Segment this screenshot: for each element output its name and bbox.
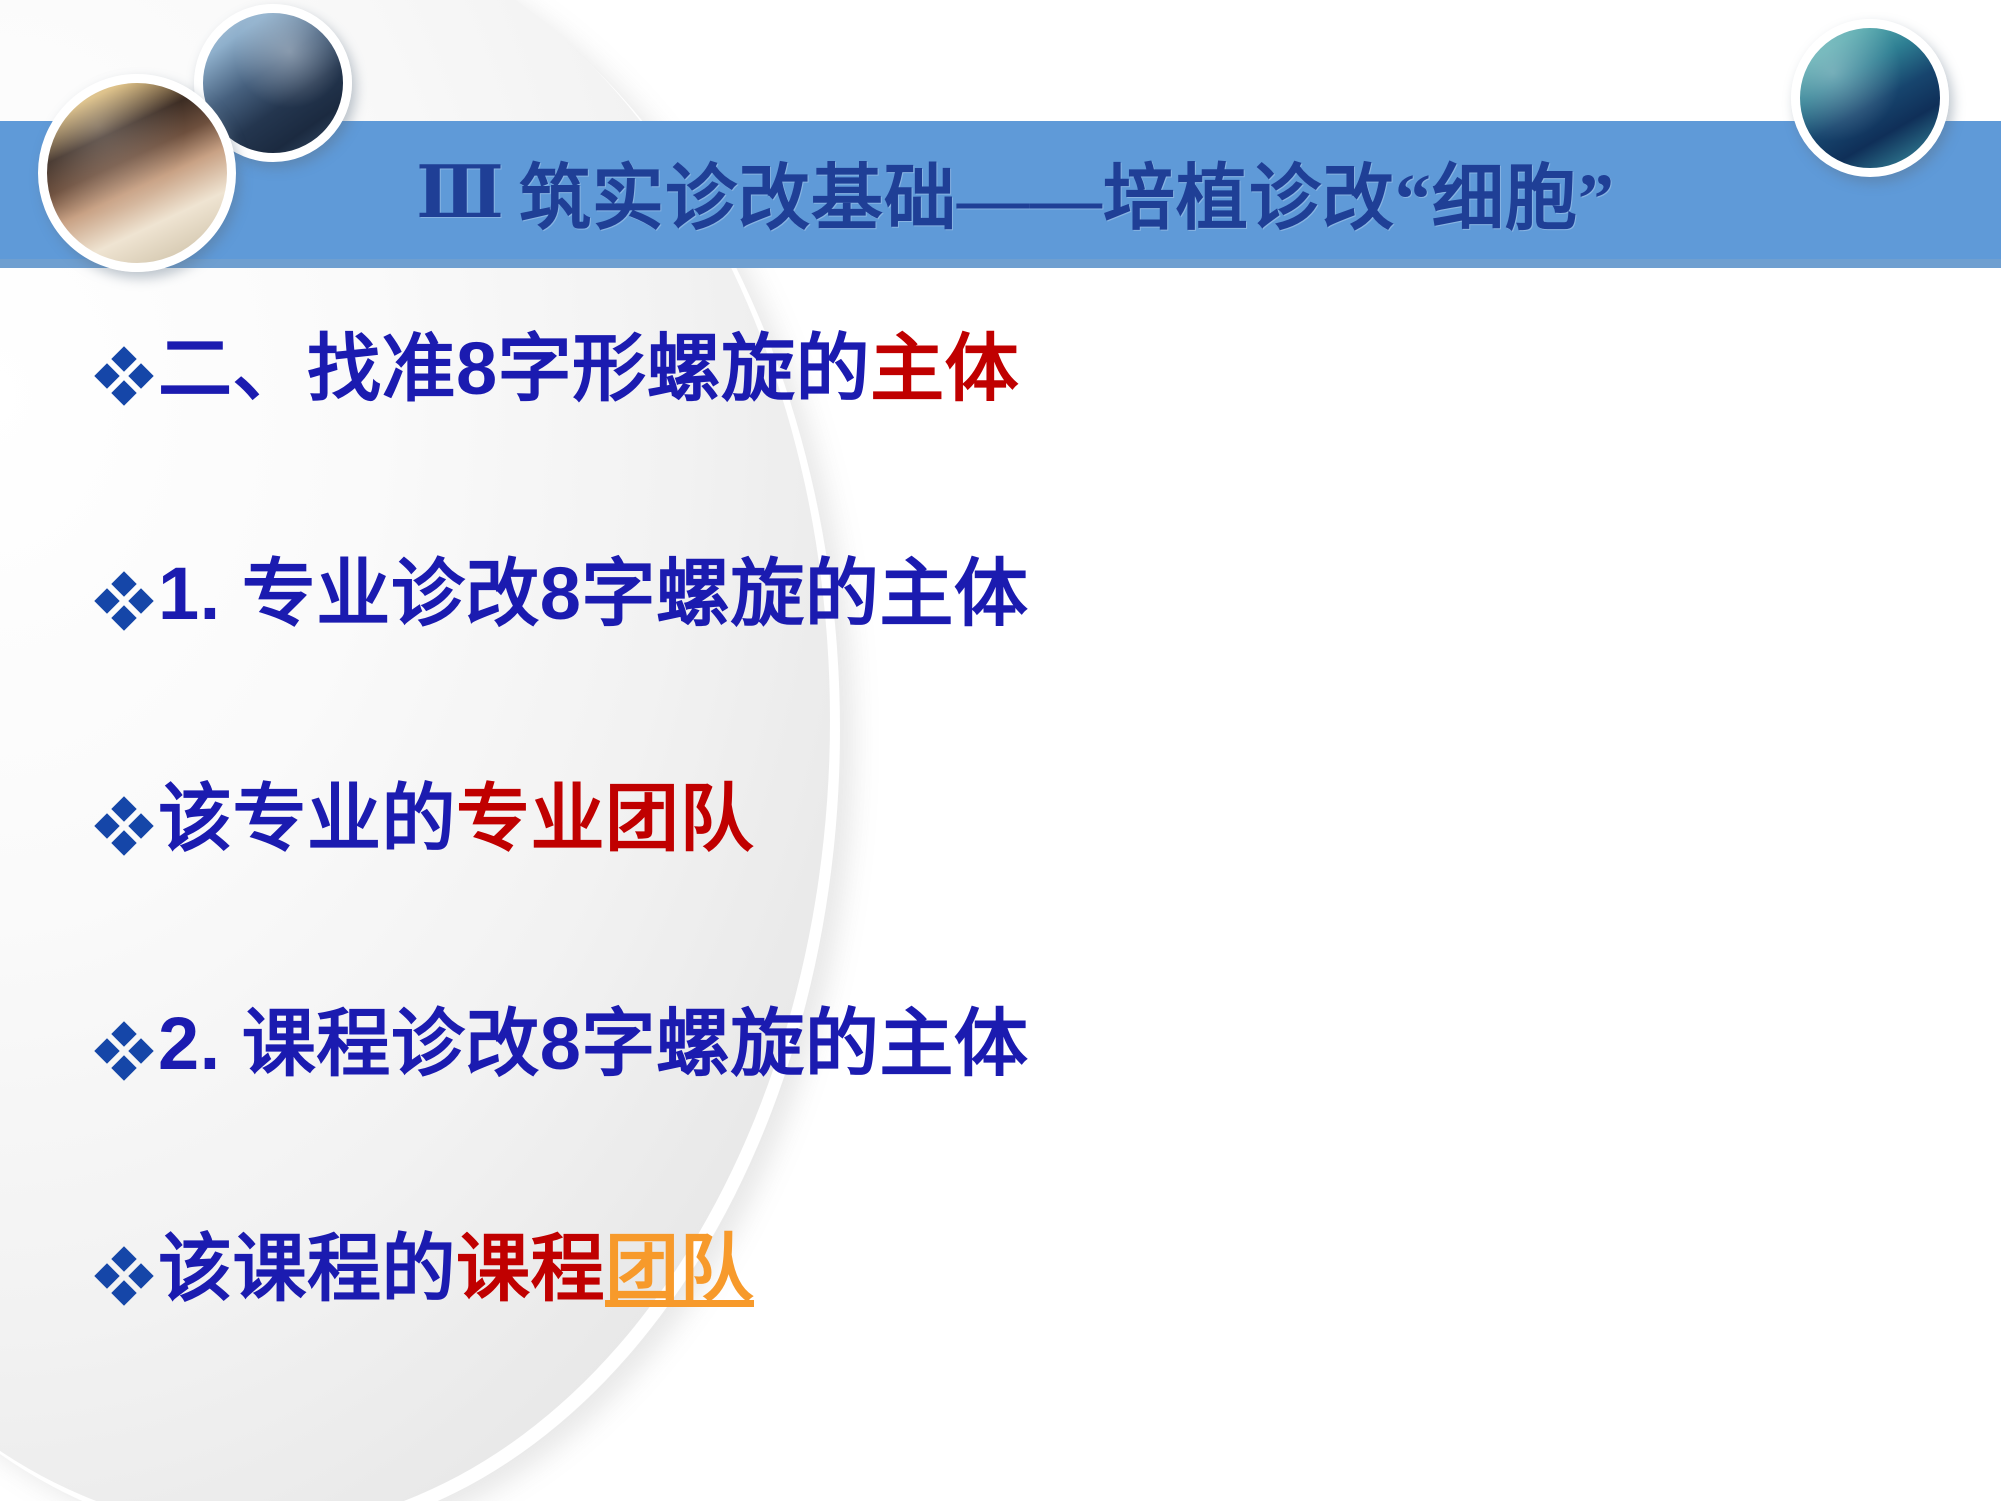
text-segment: 该课程的 — [158, 1227, 456, 1310]
slide-title-numeral: Ⅲ — [416, 149, 505, 235]
text-segment: 2. 课程诊改8字螺旋的主体 — [158, 1002, 1028, 1085]
slide-title-text: 筑实诊改基础——培植诊改“细胞” — [519, 139, 1615, 244]
presentation-slide: Ⅲ 筑实诊改基础——培植诊改“细胞” 二、找准8字形螺旋的主体 1. 专业诊改8… — [0, 0, 2001, 1501]
text-segment-highlight: 主体 — [870, 327, 1019, 410]
text-segment: 1. 专业诊改8字螺旋的主体 — [158, 552, 1028, 635]
hyperlink-team[interactable]: 团队 — [605, 1227, 754, 1310]
list-item: 该专业的专业团队 — [96, 780, 1916, 886]
diamond-cluster-bullet-icon — [96, 798, 152, 858]
diamond-cluster-bullet-icon — [96, 348, 152, 408]
list-item: 1. 专业诊改8字螺旋的主体 — [96, 555, 1916, 661]
list-item: 2. 课程诊改8字螺旋的主体 — [96, 1005, 1916, 1111]
man-writing-presentation-photo — [1794, 22, 1944, 172]
list-item-text: 该专业的专业团队 — [158, 780, 754, 858]
list-item-text: 1. 专业诊改8字螺旋的主体 — [158, 555, 1028, 633]
list-item-text: 2. 课程诊改8字螺旋的主体 — [158, 1005, 1028, 1083]
text-segment: 二、找准8字形螺旋的 — [158, 327, 870, 410]
text-segment-highlight: 课程 — [456, 1227, 605, 1310]
text-segment-highlight: 专业团队 — [456, 777, 754, 860]
two-men-at-laptop-photo — [41, 77, 231, 267]
list-item-text: 该课程的课程团队 — [158, 1230, 754, 1308]
list-item: 该课程的课程团队 — [96, 1230, 1916, 1336]
list-item: 二、找准8字形螺旋的主体 — [96, 330, 1916, 436]
diamond-cluster-bullet-icon — [96, 1023, 152, 1083]
list-item-text: 二、找准8字形螺旋的主体 — [158, 330, 1019, 408]
bullet-list: 二、找准8字形螺旋的主体 1. 专业诊改8字螺旋的主体 该专业的专业团队 — [96, 330, 1916, 1336]
text-segment: 该专业的 — [158, 777, 456, 860]
diamond-cluster-bullet-icon — [96, 1248, 152, 1308]
diamond-cluster-bullet-icon — [96, 573, 152, 633]
